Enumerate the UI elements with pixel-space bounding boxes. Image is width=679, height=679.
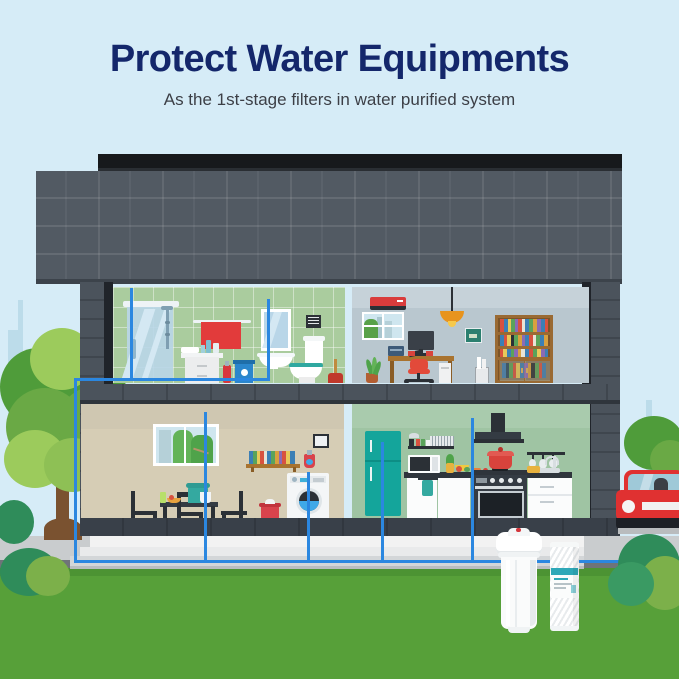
washing-machine-buttons	[313, 478, 324, 482]
microwave-panel	[432, 457, 438, 471]
bookshelf-books-row3	[500, 349, 548, 357]
car-driver	[654, 478, 668, 490]
fruit-apple	[169, 495, 174, 500]
filter-pressure-button	[516, 528, 521, 532]
page-title: Protect Water Equipments	[0, 0, 679, 80]
air-conditioner-vent	[370, 306, 406, 310]
pc-tower	[439, 363, 451, 383]
monitor-screen	[408, 331, 434, 350]
oven-knob-1	[490, 478, 495, 483]
plunger-cup	[328, 373, 343, 383]
apple-2	[464, 467, 470, 472]
dining-wall-picture-art	[315, 436, 327, 446]
printer-slot	[390, 349, 402, 351]
car-headlight	[622, 500, 635, 513]
cutting-board	[527, 466, 540, 473]
printer	[388, 346, 404, 356]
cartridge-label-text-1	[554, 578, 568, 580]
toilet-tank-lid	[303, 336, 325, 341]
pendant-lamp-bulb	[448, 321, 456, 327]
kitchen-towel-rail	[418, 478, 438, 480]
dining-window-tree-1	[173, 430, 193, 463]
room-bathroom	[113, 287, 345, 383]
kitchen-cups	[426, 440, 430, 446]
cleaner-bottle-cap	[225, 361, 229, 366]
cartridge-label-text-3	[554, 587, 566, 589]
vanity-handle-1	[197, 365, 207, 367]
room-office	[352, 287, 589, 383]
kitchen-cabinet-handle-1	[540, 486, 554, 488]
dining-table-leg-l	[163, 506, 167, 518]
refrigerator-handle-top	[370, 440, 372, 452]
pc-tower-slot	[441, 367, 449, 369]
kitchen-jar-3	[421, 439, 425, 446]
dish-rack-shelf	[408, 446, 454, 449]
pipe-shower-drop	[130, 288, 133, 380]
office-window-tree	[364, 319, 378, 338]
laundry-basket-cloth	[265, 499, 275, 504]
bookshelf-cabinet-books	[502, 363, 546, 378]
red-pot-knob	[498, 447, 503, 452]
wall-shelf-books	[249, 451, 295, 464]
office-chair-wheel-l	[404, 379, 409, 383]
wall-shelf-bracket-l	[251, 467, 254, 472]
house	[36, 154, 622, 542]
pendant-lamp-cord	[451, 287, 453, 311]
room-dining	[81, 404, 344, 518]
pipe-kitchen-drop	[471, 418, 474, 562]
shower-valve-2	[165, 333, 170, 336]
filter-housing-highlight	[506, 560, 510, 626]
car-grille	[642, 502, 679, 510]
kitchen-jar-2	[416, 439, 420, 446]
range-hood-duct	[491, 413, 505, 433]
cartridge-label-text-2	[554, 583, 572, 585]
pipe-fridge-drop	[381, 442, 384, 562]
toiletry-bottle-1	[206, 340, 211, 353]
cartridge-bottom-cap	[550, 626, 579, 631]
bookshelf-books-row2	[500, 335, 548, 346]
trash-bin-lid	[233, 360, 255, 364]
water-filter-products	[488, 528, 598, 638]
red-pot-body	[489, 455, 512, 469]
office-window-mullion-h	[364, 325, 402, 327]
toilet-base	[299, 377, 315, 383]
washing-machine-knob	[292, 477, 297, 482]
page-subtitle: As the 1st-stage filters in water purifi…	[0, 80, 679, 110]
dining-chair-right-leg	[222, 511, 226, 518]
microwave-window	[410, 457, 430, 471]
toiletry-bottle-3	[201, 345, 205, 353]
car	[616, 470, 679, 538]
detergent-cap	[307, 450, 312, 455]
bookshelf-books-row1	[500, 319, 548, 332]
cartridge-shade	[573, 547, 579, 630]
dining-chair-left-leg	[153, 511, 157, 518]
rolled-paper-2	[482, 359, 486, 369]
dish-rack	[430, 436, 454, 446]
drink-glass	[160, 492, 166, 503]
desk-cup-2	[426, 351, 433, 356]
desk-leg-left	[390, 361, 394, 383]
pineapple-body	[446, 463, 454, 473]
vanity-handle-2	[197, 375, 207, 377]
floor-divider	[80, 384, 620, 401]
bush-left-lower-2	[26, 556, 70, 596]
paper-holder	[475, 367, 489, 383]
header: Protect Water Equipments As the 1st-stag…	[0, 0, 679, 130]
wall-shelf	[246, 464, 300, 468]
oven-window	[478, 491, 524, 518]
office-wall-picture-art	[469, 334, 477, 338]
kitchen-sink	[538, 468, 560, 473]
toilet-paper	[269, 361, 278, 369]
kitchen-cabinet-left2	[438, 478, 470, 518]
filter-housing-rib	[515, 560, 517, 630]
pipe-washer-drop	[307, 472, 310, 562]
filter-housing-foot	[508, 627, 530, 633]
oven-display	[476, 478, 487, 483]
rolled-paper-1	[477, 357, 481, 369]
toiletry-bottle-2	[213, 343, 219, 353]
basin-top	[257, 353, 295, 357]
bush-right-foliage-3	[608, 562, 654, 606]
wall-shelf-bracket-r	[293, 467, 296, 472]
kitchen-cabinet-right	[528, 478, 572, 518]
dining-window-building	[159, 430, 171, 463]
pipe-left-riser	[74, 378, 77, 563]
filter-housing-shade	[530, 560, 536, 626]
shower-valve-1	[165, 321, 170, 324]
pipe-basin-drop	[267, 299, 270, 380]
desk-cup-1	[408, 351, 415, 356]
refrigerator-handle-bottom	[370, 467, 372, 481]
shower-head	[161, 306, 173, 310]
bookshelf-door-handle-l	[521, 368, 523, 373]
oven-knob-3	[508, 478, 513, 483]
kitchen-faucet-spout	[545, 456, 559, 465]
air-conditioner-light	[397, 300, 403, 302]
oven-knob-4	[517, 478, 522, 483]
dining-window-mullion-v	[184, 427, 186, 463]
roof-brick-wall	[36, 171, 622, 283]
range-hood-lip	[472, 439, 524, 443]
kitchen-cabinet-handle-2	[540, 501, 554, 503]
infographic-canvas: Protect Water Equipments As the 1st-stag…	[0, 0, 679, 679]
dining-table-leg-r	[211, 506, 215, 518]
kitchen-jar-1	[409, 439, 414, 446]
office-window-city-2	[385, 321, 392, 338]
pipe-bathroom-feed	[74, 378, 270, 381]
detergent-label	[306, 459, 313, 465]
folded-towels	[181, 347, 199, 353]
oven-door-handle	[475, 486, 523, 489]
recycle-icon	[241, 369, 248, 376]
office-chair-wheel-r	[429, 379, 434, 383]
kitchen-utensil-hook	[409, 433, 419, 438]
bookshelf-door-handle-r	[526, 368, 528, 373]
wall-vent-slats	[308, 317, 319, 326]
roof-underside	[36, 279, 622, 284]
pipe-coffee-drop	[204, 412, 207, 562]
apple-1	[456, 466, 462, 472]
kitchen-towel	[422, 480, 433, 496]
toilet-tank	[305, 339, 323, 363]
shower-pipe-riser	[166, 307, 169, 349]
kitchen-drawer-divider	[528, 494, 572, 496]
oven-knob-2	[499, 478, 504, 483]
